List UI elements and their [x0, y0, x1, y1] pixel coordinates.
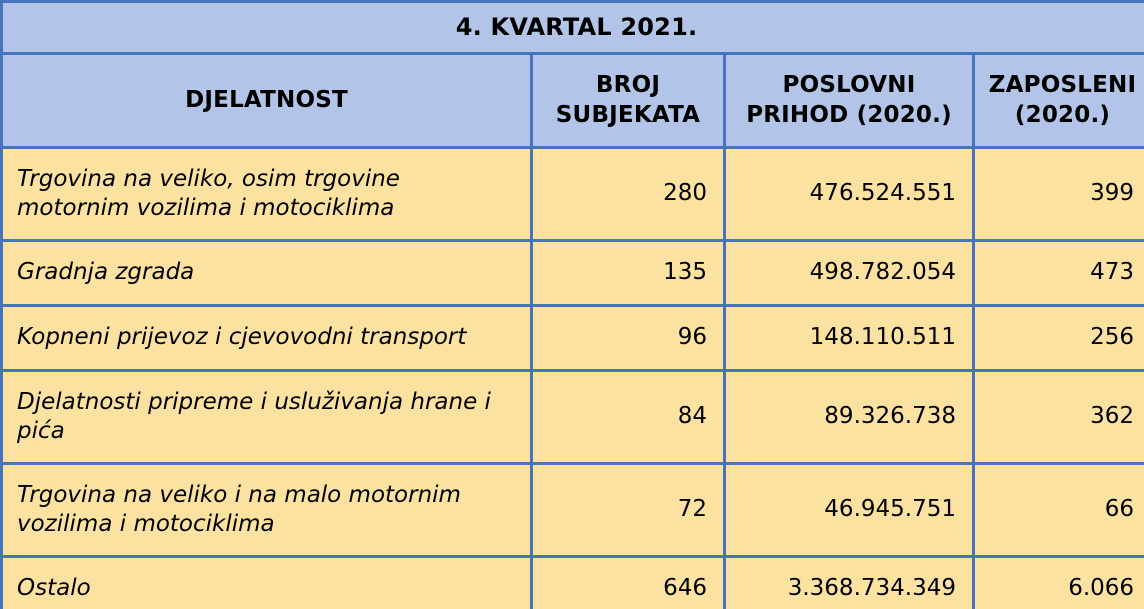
cell-broj-subjekata: 84	[532, 371, 725, 464]
cell-poslovni-prihod: 3.368.734.349	[725, 557, 974, 609]
table-row: Gradnja zgrada 135 498.782.054 473	[2, 241, 1144, 306]
column-header-djelatnost-line1: DJELATNOST	[11, 86, 522, 115]
cell-djelatnost: Trgovina na veliko, osim trgovine motorn…	[2, 148, 532, 241]
table-row: Ostalo 646 3.368.734.349 6.066	[2, 557, 1144, 609]
table-row: Trgovina na veliko, osim trgovine motorn…	[2, 148, 1144, 241]
quarterly-statistics-table: 4. KVARTAL 2021. DJELATNOST BROJ SUBJEKA…	[0, 0, 1144, 609]
cell-broj-subjekata: 72	[532, 464, 725, 557]
cell-broj-subjekata: 96	[532, 306, 725, 371]
cell-poslovni-prihod: 89.326.738	[725, 371, 974, 464]
table-row: Djelatnosti pripreme i usluživanja hrane…	[2, 371, 1144, 464]
column-header-zaposleni-line1: ZAPOSLENI	[983, 71, 1142, 100]
cell-djelatnost: Gradnja zgrada	[2, 241, 532, 306]
cell-poslovni-prihod: 476.524.551	[725, 148, 974, 241]
column-header-poslovni-prihod-line2: PRIHOD (2020.)	[734, 101, 964, 130]
table-container: 4. KVARTAL 2021. DJELATNOST BROJ SUBJEKA…	[0, 0, 1144, 609]
column-header-poslovni-prihod: POSLOVNI PRIHOD (2020.)	[725, 54, 974, 148]
column-header-broj-subjekata: BROJ SUBJEKATA	[532, 54, 725, 148]
cell-poslovni-prihod: 498.782.054	[725, 241, 974, 306]
cell-zaposleni: 256	[974, 306, 1144, 371]
cell-poslovni-prihod: 148.110.511	[725, 306, 974, 371]
table-title: 4. KVARTAL 2021.	[2, 2, 1144, 54]
table-row: Trgovina na veliko i na malo motornim vo…	[2, 464, 1144, 557]
cell-zaposleni: 473	[974, 241, 1144, 306]
cell-djelatnost: Ostalo	[2, 557, 532, 609]
cell-poslovni-prihod: 46.945.751	[725, 464, 974, 557]
cell-djelatnost: Kopneni prijevoz i cjevovodni transport	[2, 306, 532, 371]
cell-djelatnost: Djelatnosti pripreme i usluživanja hrane…	[2, 371, 532, 464]
column-header-djelatnost: DJELATNOST	[2, 54, 532, 148]
table-header: 4. KVARTAL 2021. DJELATNOST BROJ SUBJEKA…	[2, 2, 1144, 148]
cell-zaposleni: 399	[974, 148, 1144, 241]
table-body: Trgovina na veliko, osim trgovine motorn…	[2, 148, 1144, 609]
column-header-zaposleni-line2: (2020.)	[983, 101, 1142, 130]
cell-zaposleni: 6.066	[974, 557, 1144, 609]
column-header-zaposleni: ZAPOSLENI (2020.)	[974, 54, 1144, 148]
cell-zaposleni: 66	[974, 464, 1144, 557]
cell-zaposleni: 362	[974, 371, 1144, 464]
table-row: Kopneni prijevoz i cjevovodni transport …	[2, 306, 1144, 371]
column-header-broj-subjekata-line1: BROJ	[541, 71, 715, 100]
cell-broj-subjekata: 646	[532, 557, 725, 609]
cell-broj-subjekata: 135	[532, 241, 725, 306]
column-header-poslovni-prihod-line1: POSLOVNI	[734, 71, 964, 100]
cell-broj-subjekata: 280	[532, 148, 725, 241]
cell-djelatnost: Trgovina na veliko i na malo motornim vo…	[2, 464, 532, 557]
column-header-broj-subjekata-line2: SUBJEKATA	[541, 101, 715, 130]
column-header-row: DJELATNOST BROJ SUBJEKATA POSLOVNI PRIHO…	[2, 54, 1144, 148]
table-title-row: 4. KVARTAL 2021.	[2, 2, 1144, 54]
